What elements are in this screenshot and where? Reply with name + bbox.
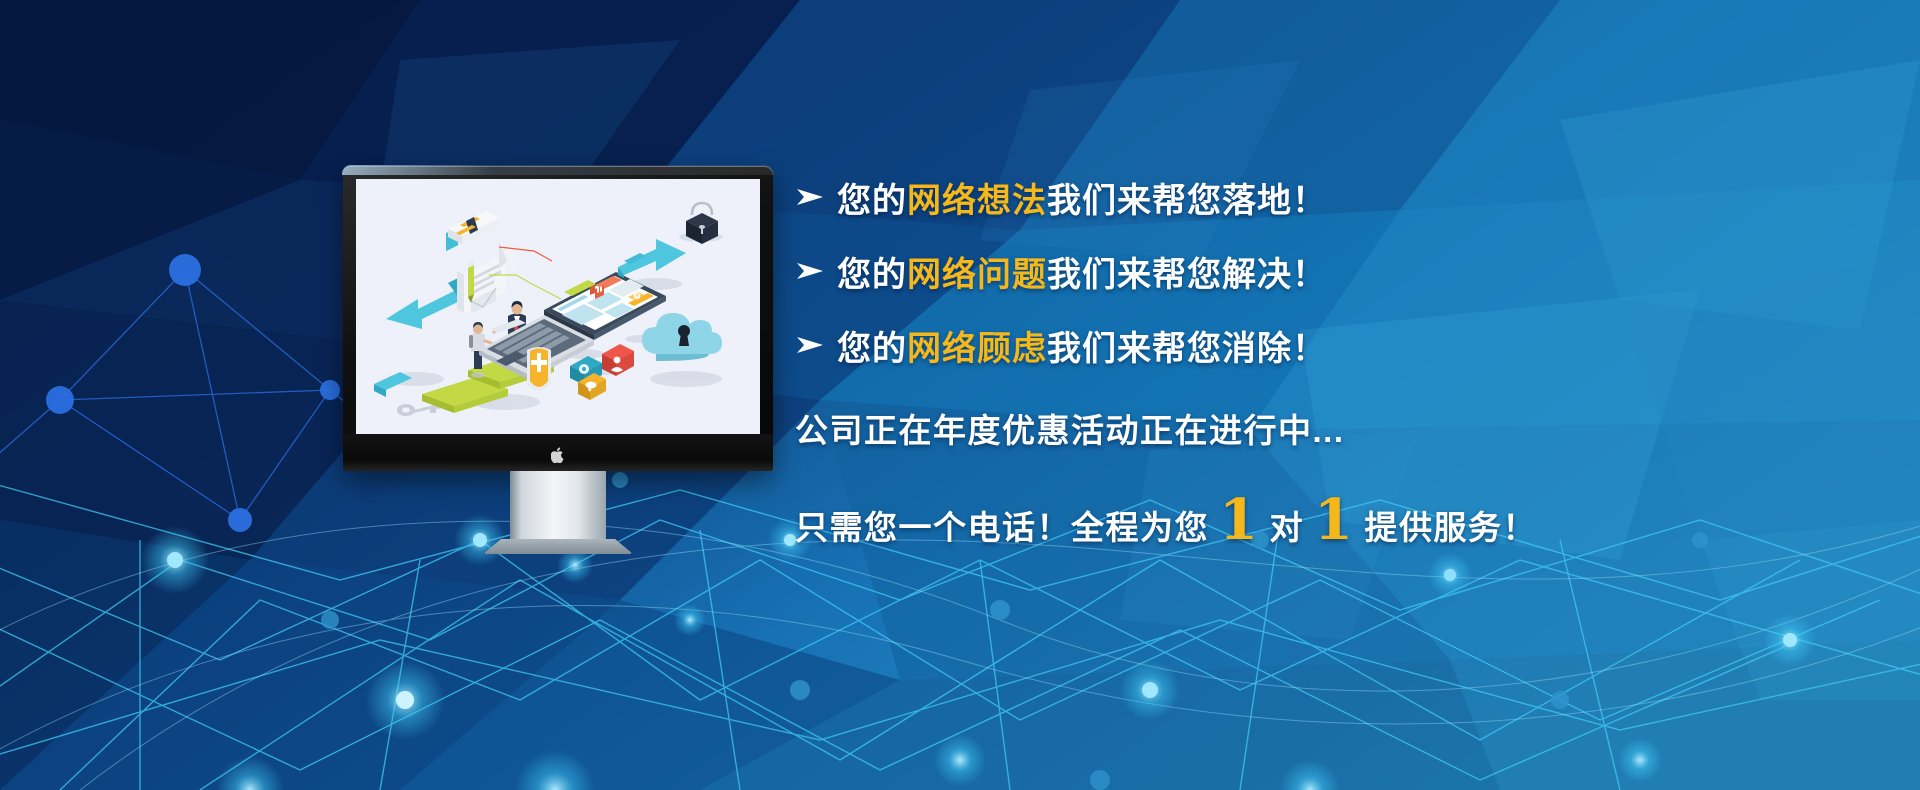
service-line-middle: 对 [1269,501,1304,549]
shield-icon [527,347,551,391]
banner-copy: 您的网络想法我们来帮您落地！ 您的网络问题我们来帮您解决！ 您的网络顾虑我们来帮… [795,160,1695,549]
bullet-text-2: 您的网络问题我们来帮您解决！ [837,247,1327,296]
bullet-highlight-3: 网络顾虑 [907,330,1047,368]
bullet-prefix-2: 您的 [837,256,907,294]
service-line-part1: 只需您一个电话！全程为您 [795,501,1209,549]
bullet-suffix-2: 我们来帮您解决！ [1047,256,1327,294]
bullet-prefix-1: 您的 [837,182,907,220]
service-line-part2: 提供服务！ [1364,501,1537,549]
bullet-row-2: 您的网络问题我们来帮您解决！ [795,234,1695,308]
arrow-right-icon [795,186,837,208]
bullet-text-3: 您的网络顾虑我们来帮您消除！ [837,321,1327,370]
isometric-network-security-scene [356,179,760,434]
monitor-stand-neck [510,471,606,546]
apple-logo-icon [551,447,565,463]
service-number-1: 1 [1209,492,1269,548]
bullet-highlight-2: 网络问题 [907,256,1047,294]
promo-line: 公司正在年度优惠活动正在进行中... [795,404,1695,452]
bullet-row-3: 您的网络顾虑我们来帮您消除！ [795,308,1695,382]
arrow-right-icon [795,334,837,356]
monitor-bezel [343,166,773,471]
monitor-illustration [343,166,773,556]
arrow-right-icon [795,260,837,282]
service-number-2: 1 [1304,492,1364,548]
bullet-suffix-1: 我们来帮您落地！ [1047,182,1327,220]
bullet-prefix-3: 您的 [837,330,907,368]
monitor-stand-foot [483,539,633,554]
bullet-row-1: 您的网络想法我们来帮您落地！ [795,160,1695,234]
bullet-text-1: 您的网络想法我们来帮您落地！ [837,173,1327,222]
bullet-suffix-3: 我们来帮您消除！ [1047,330,1327,368]
service-line: 只需您一个电话！全程为您 1 对 1 提供服务！ [795,492,1695,549]
monitor-screen [356,179,760,434]
promotional-banner: 您的网络想法我们来帮您落地！ 您的网络问题我们来帮您解决！ 您的网络顾虑我们来帮… [0,0,1920,790]
bullet-highlight-1: 网络想法 [907,182,1047,220]
